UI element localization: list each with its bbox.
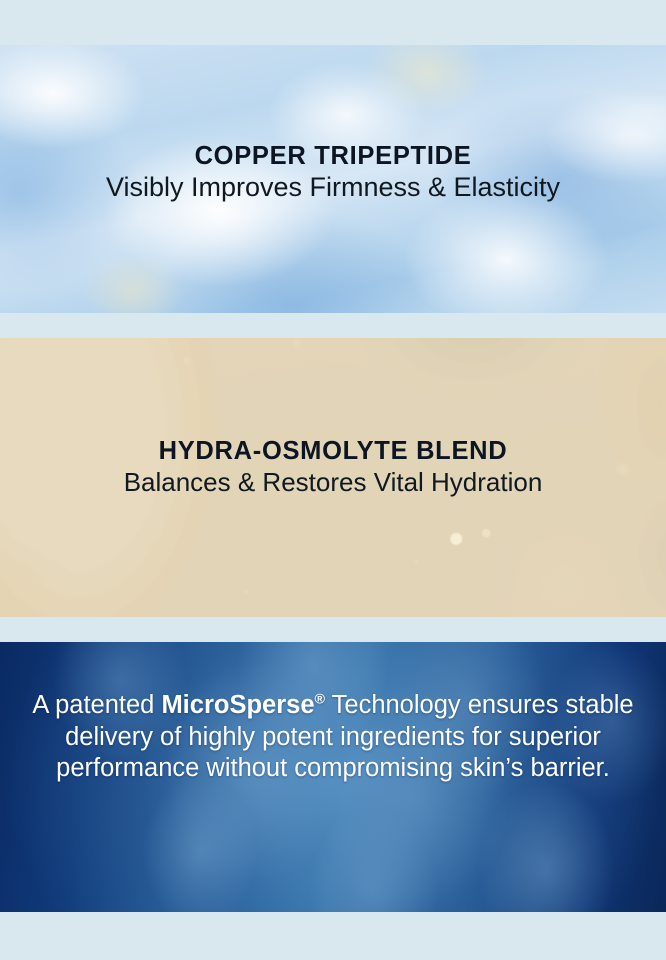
ingredient-name-hydra-osmolyte-blend: HYDRA-OSMOLYTE BLEND bbox=[0, 438, 666, 465]
panel-hydra-text-block: HYDRA-OSMOLYTE BLEND Balances & Restores… bbox=[0, 438, 666, 496]
ingredient-claim-copper-tripeptide: Visibly Improves Firmness & Elasticity bbox=[0, 173, 666, 203]
panel-copper-text-block: COPPER TRIPEPTIDE Visibly Improves Firmn… bbox=[0, 143, 666, 202]
technology-line4: without compromising skin’s barrier. bbox=[206, 754, 609, 782]
ingredient-claim-hydra-osmolyte-blend: Balances & Restores Vital Hydration bbox=[0, 468, 666, 497]
technology-line1-suffix: Technology bbox=[325, 691, 461, 719]
panel-microsperse-technology: A patented MicroSperse® Technology ensur… bbox=[0, 642, 666, 912]
ingredient-benefits-banner: COPPER TRIPEPTIDE Visibly Improves Firmn… bbox=[0, 0, 666, 960]
panel-copper-tripeptide: COPPER TRIPEPTIDE Visibly Improves Firmn… bbox=[0, 45, 666, 313]
brand-name-microsperse: MicroSperse bbox=[161, 691, 314, 719]
technology-line1-prefix: A patented bbox=[32, 691, 161, 719]
registered-trademark-icon: ® bbox=[315, 692, 326, 708]
panel-tech-text-block: A patented MicroSperse® Technology ensur… bbox=[0, 690, 666, 785]
technology-description: A patented MicroSperse® Technology ensur… bbox=[0, 690, 666, 785]
panel-hydra-osmolyte-blend: HYDRA-OSMOLYTE BLEND Balances & Restores… bbox=[0, 338, 666, 617]
ingredient-name-copper-tripeptide: COPPER TRIPEPTIDE bbox=[0, 143, 666, 170]
